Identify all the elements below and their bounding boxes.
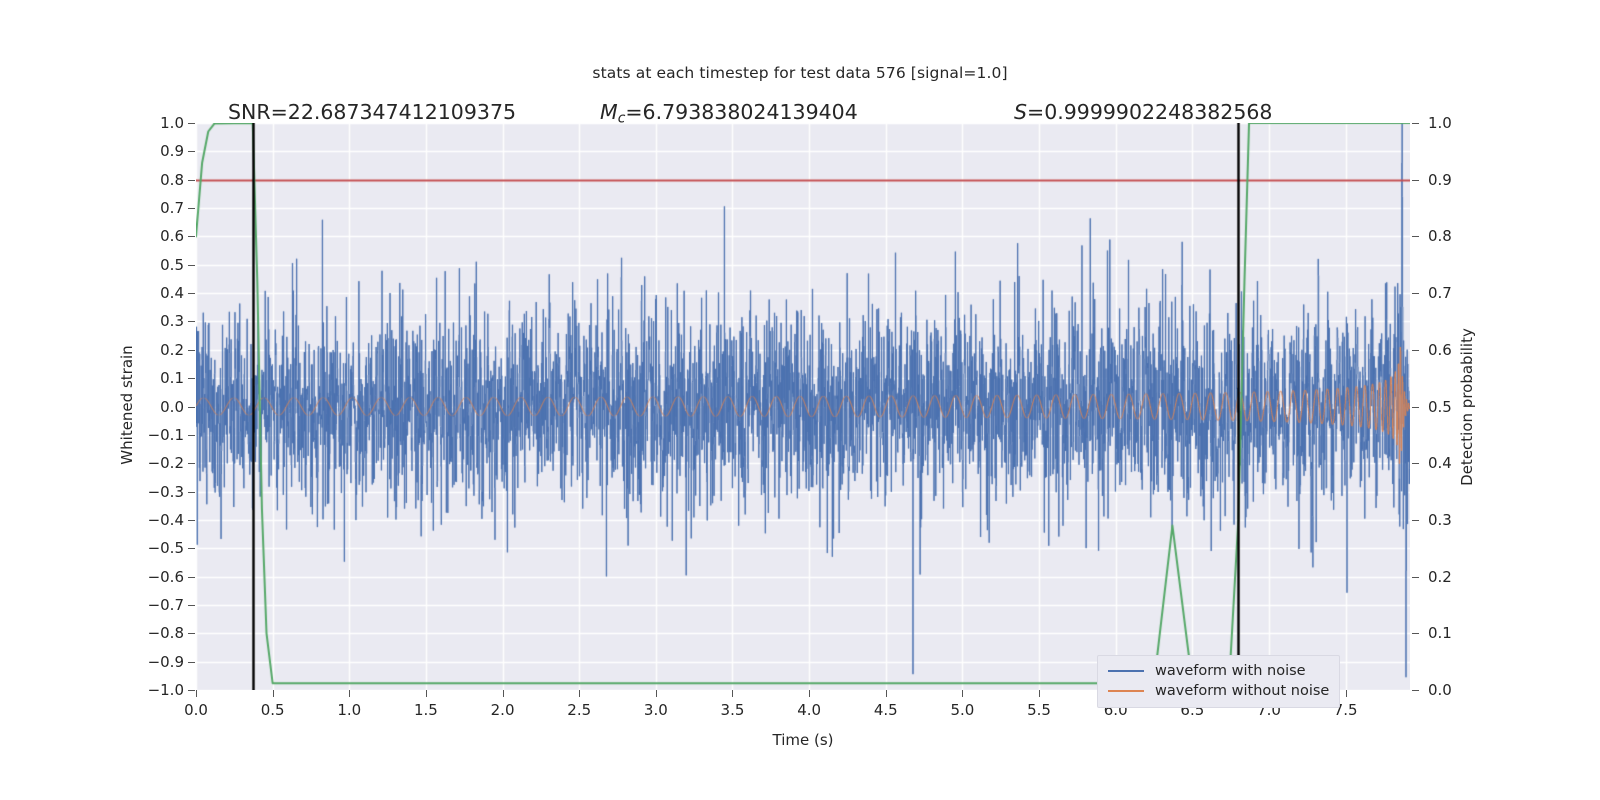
y-tick-mark-right — [1412, 520, 1419, 521]
y-tick-mark-left — [188, 435, 195, 436]
plot-area — [196, 123, 1410, 690]
y-axis-label-left: Whitened strain — [118, 280, 136, 530]
y-axis-label-right: Detection probability — [1458, 267, 1476, 547]
y-tick-label-right: 0.8 — [1428, 227, 1452, 245]
y-tick-mark-left — [188, 605, 195, 606]
y-tick-label-left: 0.5 — [160, 256, 184, 274]
y-tick-mark-right — [1412, 690, 1419, 691]
y-tick-label-right: 0.4 — [1428, 454, 1452, 472]
y-tick-label-right: 0.3 — [1428, 511, 1452, 529]
x-tick-mark — [349, 690, 350, 697]
snr-label: SNR= — [228, 100, 288, 124]
x-tick-label: 2.0 — [491, 701, 515, 719]
x-tick-label: 1.0 — [337, 701, 361, 719]
y-tick-mark-left — [188, 265, 195, 266]
x-tick-mark — [273, 690, 274, 697]
y-tick-label-left: −0.9 — [148, 653, 184, 671]
legend: waveform with noise waveform without noi… — [1097, 655, 1340, 708]
y-tick-label-left: −1.0 — [148, 681, 184, 699]
x-tick-label: 1.5 — [414, 701, 438, 719]
y-tick-label-right: 0.9 — [1428, 171, 1452, 189]
x-tick-label: 3.0 — [644, 701, 668, 719]
y-tick-mark-left — [188, 520, 195, 521]
mc-equals: = — [625, 100, 642, 124]
y-tick-label-right: 0.0 — [1428, 681, 1452, 699]
x-tick-label: 5.5 — [1027, 701, 1051, 719]
x-tick-mark — [196, 690, 197, 697]
y-tick-mark-left — [188, 151, 195, 152]
legend-label-clean: waveform without noise — [1155, 683, 1329, 699]
x-tick-mark — [732, 690, 733, 697]
y-tick-mark-left — [188, 577, 195, 578]
x-tick-mark — [1346, 690, 1347, 697]
y-tick-label-right: 0.2 — [1428, 568, 1452, 586]
y-tick-label-right: 0.7 — [1428, 284, 1452, 302]
x-tick-mark — [656, 690, 657, 697]
y-tick-mark-left — [188, 350, 195, 351]
y-tick-mark-left — [188, 123, 195, 124]
y-tick-label-left: −0.2 — [148, 454, 184, 472]
x-tick-label: 2.5 — [567, 701, 591, 719]
annotation-significance: S=0.9999902248382568 — [1014, 100, 1272, 124]
y-tick-mark-left — [188, 463, 195, 464]
y-tick-label-left: 0.3 — [160, 312, 184, 330]
y-tick-label-left: 0.1 — [160, 369, 184, 387]
y-tick-mark-left — [188, 293, 195, 294]
y-tick-label-left: 0.9 — [160, 142, 184, 160]
y-tick-label-left: −0.3 — [148, 483, 184, 501]
y-tick-label-left: 0.0 — [160, 398, 184, 416]
y-tick-label-left: 0.8 — [160, 171, 184, 189]
legend-swatch-clean — [1108, 690, 1144, 692]
legend-label-noise: waveform with noise — [1155, 663, 1306, 679]
x-tick-mark — [1039, 690, 1040, 697]
y-tick-mark-left — [188, 690, 195, 691]
x-tick-label: 4.5 — [874, 701, 898, 719]
plot-canvas — [196, 123, 1410, 690]
y-tick-label-right: 0.5 — [1428, 398, 1452, 416]
y-tick-mark-right — [1412, 633, 1419, 634]
x-axis-label: Time (s) — [196, 731, 1410, 749]
y-tick-label-left: −0.4 — [148, 511, 184, 529]
y-tick-label-right: 0.6 — [1428, 341, 1452, 359]
x-tick-mark — [503, 690, 504, 697]
y-tick-label-left: 0.6 — [160, 227, 184, 245]
y-tick-label-left: 1.0 — [160, 114, 184, 132]
legend-item-clean: waveform without noise — [1108, 681, 1329, 701]
s-value: 0.9999902248382568 — [1044, 100, 1272, 124]
y-tick-mark-left — [188, 548, 195, 549]
y-tick-mark-right — [1412, 123, 1419, 124]
y-tick-mark-left — [188, 378, 195, 379]
y-tick-mark-left — [188, 633, 195, 634]
y-tick-label-left: 0.4 — [160, 284, 184, 302]
y-tick-mark-right — [1412, 293, 1419, 294]
y-tick-label-left: 0.2 — [160, 341, 184, 359]
x-tick-label: 4.0 — [797, 701, 821, 719]
y-tick-label-left: −0.1 — [148, 426, 184, 444]
y-tick-mark-right — [1412, 407, 1419, 408]
y-tick-mark-right — [1412, 350, 1419, 351]
y-tick-mark-left — [188, 208, 195, 209]
x-tick-mark — [426, 690, 427, 697]
y-tick-label-left: −0.8 — [148, 624, 184, 642]
x-tick-label: 0.5 — [261, 701, 285, 719]
x-tick-mark — [886, 690, 887, 697]
y-tick-mark-left — [188, 236, 195, 237]
x-tick-label: 3.5 — [721, 701, 745, 719]
x-tick-label: 0.0 — [184, 701, 208, 719]
y-tick-mark-right — [1412, 577, 1419, 578]
y-tick-mark-left — [188, 662, 195, 663]
y-tick-mark-right — [1412, 463, 1419, 464]
y-tick-mark-left — [188, 321, 195, 322]
legend-item-noise: waveform with noise — [1108, 661, 1329, 681]
y-tick-label-left: −0.7 — [148, 596, 184, 614]
annotation-snr: SNR=22.687347412109375 — [228, 100, 516, 124]
x-tick-mark — [579, 690, 580, 697]
y-tick-label-right: 1.0 — [1428, 114, 1452, 132]
mc-label: M — [600, 100, 618, 124]
legend-swatch-noise — [1108, 670, 1144, 672]
y-tick-mark-left — [188, 180, 195, 181]
y-tick-label-right: 0.1 — [1428, 624, 1452, 642]
y-tick-label-left: −0.6 — [148, 568, 184, 586]
snr-value: 22.687347412109375 — [288, 100, 516, 124]
page-title: stats at each timestep for test data 576… — [0, 64, 1600, 82]
s-equals: = — [1027, 100, 1044, 124]
mc-value: 6.793838024139404 — [643, 100, 858, 124]
y-tick-mark-right — [1412, 180, 1419, 181]
y-tick-mark-left — [188, 407, 195, 408]
s-label: S — [1014, 100, 1027, 124]
x-tick-mark — [962, 690, 963, 697]
y-tick-mark-right — [1412, 236, 1419, 237]
y-tick-mark-left — [188, 492, 195, 493]
y-tick-label-left: −0.5 — [148, 539, 184, 557]
y-tick-label-left: 0.7 — [160, 199, 184, 217]
x-tick-mark — [809, 690, 810, 697]
x-tick-label: 5.0 — [950, 701, 974, 719]
figure: stats at each timestep for test data 576… — [0, 0, 1600, 800]
